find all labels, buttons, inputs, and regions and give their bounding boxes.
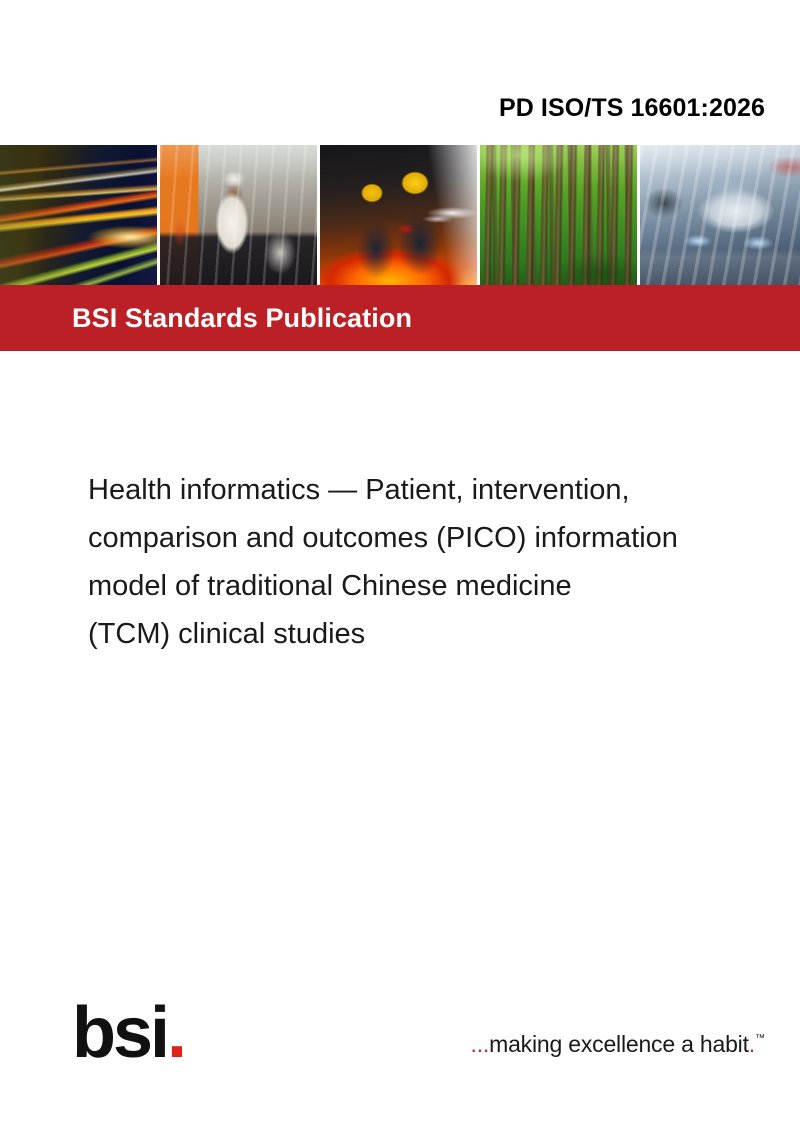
bsi-standards-publication-banner: BSI Standards Publication	[0, 285, 800, 351]
page-title-line-2: comparison and outcomes (PICO) informati…	[88, 514, 778, 562]
cover-photo-strip	[0, 145, 800, 285]
photo-panel-light-trails-night-traffic	[0, 145, 157, 285]
photo-panel-firefighters	[320, 145, 477, 285]
photo-panel-forest-trees	[480, 145, 637, 285]
page-title-line-4: (TCM) clinical studies	[88, 610, 778, 658]
bsi-logo-dot: .	[167, 993, 184, 1073]
bsi-logo-text: bsi	[72, 993, 167, 1073]
banner-title: BSI Standards Publication	[72, 303, 412, 334]
trademark-icon: ™	[755, 1033, 765, 1044]
tagline-leading-dots: ...	[471, 1031, 490, 1057]
cover-footer: bsi. ...making excellence a habit.™	[0, 995, 800, 1095]
standard-number: PD ISO/TS 16601:2026	[0, 94, 765, 123]
bsi-logo: bsi.	[72, 995, 184, 1071]
photo-panel-warehouse-worker	[160, 145, 317, 285]
page-title-line-3: model of traditional Chinese medicine	[88, 562, 778, 610]
page-title-line-1: Health informatics — Patient, interventi…	[88, 466, 778, 514]
page-title: Health informatics — Patient, interventi…	[88, 466, 778, 658]
cover-page: PD ISO/TS 16601:2026 BSI Standards Publi…	[0, 0, 800, 1132]
photo-panel-car-assembly-line	[640, 145, 800, 285]
tagline-text: making excellence a habit	[489, 1031, 749, 1057]
bsi-tagline: ...making excellence a habit.™	[471, 1031, 765, 1058]
